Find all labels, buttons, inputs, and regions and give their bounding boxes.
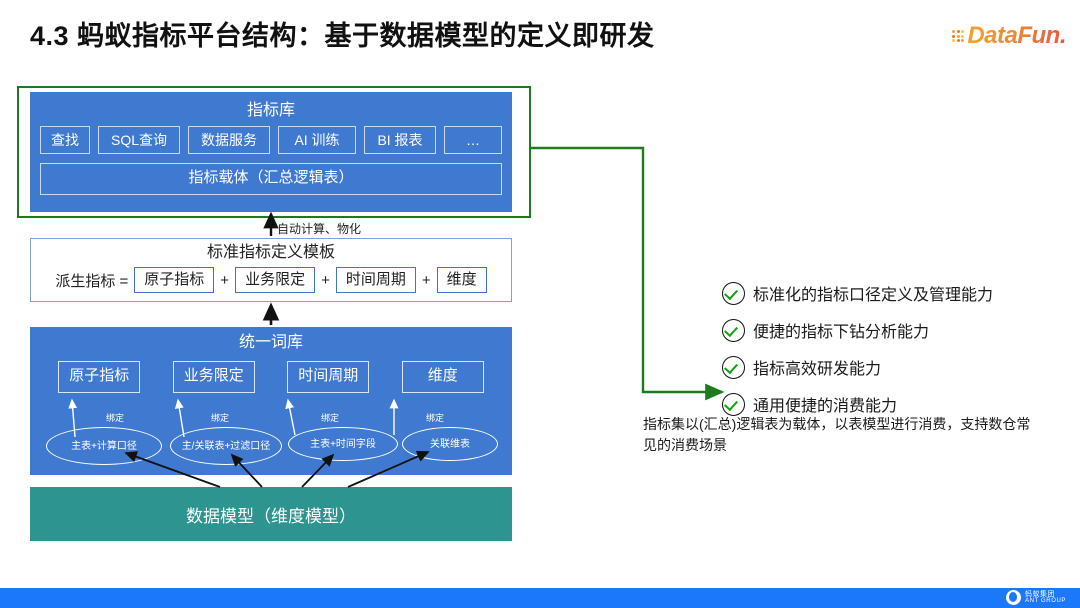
chip-sql-query[interactable]: SQL查询 (98, 126, 180, 154)
capability-item-4: 通用便捷的消费能力 (722, 392, 1072, 416)
capability-label-2: 便捷的指标下钻分析能力 (753, 318, 929, 342)
ant-mark-icon (1006, 590, 1021, 605)
unified-dictionary-panel: 统一词库 原子指标 业务限定 时间周期 维度 绑定 绑定 绑定 绑定 主表+计算… (30, 327, 512, 475)
unified-dictionary-title: 统一词库 (30, 327, 512, 357)
formula-term-period[interactable]: 时间周期 (336, 267, 416, 293)
metric-carrier-bar: 指标载体（汇总逻辑表） (40, 163, 502, 195)
data-model-box: 数据模型（维度模型） (30, 487, 512, 541)
capability-label-3: 指标高效研发能力 (753, 355, 881, 379)
standard-template-box: 标准指标定义模板 派生指标 = 原子指标 + 业务限定 + 时间周期 + 维度 (30, 238, 512, 302)
bind-label-1: 绑定 (106, 411, 124, 424)
dictionary-card-row: 原子指标 业务限定 时间周期 维度 (30, 357, 512, 393)
metric-library-title: 指标库 (30, 98, 512, 124)
dict-card-business[interactable]: 业务限定 (173, 361, 255, 393)
source-ellipse-main-time[interactable]: 主表+时间字段 (288, 427, 398, 461)
check-circle-icon (722, 393, 745, 416)
check-circle-icon (722, 282, 745, 305)
formula-operator-3: + (422, 272, 431, 289)
dict-card-atomic[interactable]: 原子指标 (58, 361, 140, 393)
dict-card-period[interactable]: 时间周期 (287, 361, 369, 393)
bind-label-4: 绑定 (426, 411, 444, 424)
formula-term-atomic[interactable]: 原子指标 (134, 267, 214, 293)
footer-bar (0, 588, 1080, 608)
formula-operator-1: + (220, 272, 229, 289)
chip-bi-report[interactable]: BI 报表 (364, 126, 436, 154)
formula-operator-2: + (321, 272, 330, 289)
ant-wordmark: 蚂蚁集团 ANT GROUP (1025, 591, 1066, 605)
capability-label-4: 通用便捷的消费能力 (753, 392, 897, 416)
capability-item-3: 指标高效研发能力 (722, 355, 1072, 379)
check-circle-icon (722, 356, 745, 379)
capability-label-1: 标准化的指标口径定义及管理能力 (753, 281, 993, 305)
formula-lhs: 派生指标 = (55, 270, 128, 291)
formula-term-business[interactable]: 业务限定 (235, 267, 315, 293)
source-ellipse-main-calc[interactable]: 主表+计算口径 (46, 427, 162, 465)
derived-metric-formula: 派生指标 = 原子指标 + 业务限定 + 时间周期 + 维度 (31, 265, 511, 293)
bind-label-3: 绑定 (321, 411, 339, 424)
capability-list: 标准化的指标口径定义及管理能力 便捷的指标下钻分析能力 指标高效研发能力 通用便… (722, 281, 1072, 429)
dict-card-dimension[interactable]: 维度 (402, 361, 484, 393)
source-ellipse-join-filter[interactable]: 主/关联表+过滤口径 (170, 427, 282, 465)
metric-library-chip-row: 查找 SQL查询 数据服务 AI 训练 BI 报表 … (30, 124, 512, 154)
ant-logo-cn: 蚂蚁集团 (1025, 591, 1066, 598)
auto-calc-label: 自动计算、物化 (277, 220, 361, 237)
ant-logo-en: ANT GROUP (1025, 598, 1066, 605)
standard-template-title: 标准指标定义模板 (31, 239, 511, 265)
chip-more[interactable]: … (444, 126, 502, 154)
check-circle-icon (722, 319, 745, 342)
chip-ai-training[interactable]: AI 训练 (278, 126, 356, 154)
consumption-note: 指标集以(汇总)逻辑表为载体，以表模型进行消费，支持数仓常见的消费场景 (643, 414, 1043, 456)
capability-item-2: 便捷的指标下钻分析能力 (722, 318, 1072, 342)
formula-term-dimension[interactable]: 维度 (437, 267, 487, 293)
bind-label-2: 绑定 (211, 411, 229, 424)
source-ellipse-dim-table[interactable]: 关联维表 (402, 427, 498, 461)
chip-search[interactable]: 查找 (40, 126, 90, 154)
metric-library-panel: 指标库 查找 SQL查询 数据服务 AI 训练 BI 报表 … 指标载体（汇总逻… (30, 92, 512, 212)
chip-data-service[interactable]: 数据服务 (188, 126, 270, 154)
capability-item-1: 标准化的指标口径定义及管理能力 (722, 281, 1072, 305)
ant-group-logo: 蚂蚁集团 ANT GROUP (1006, 590, 1066, 605)
